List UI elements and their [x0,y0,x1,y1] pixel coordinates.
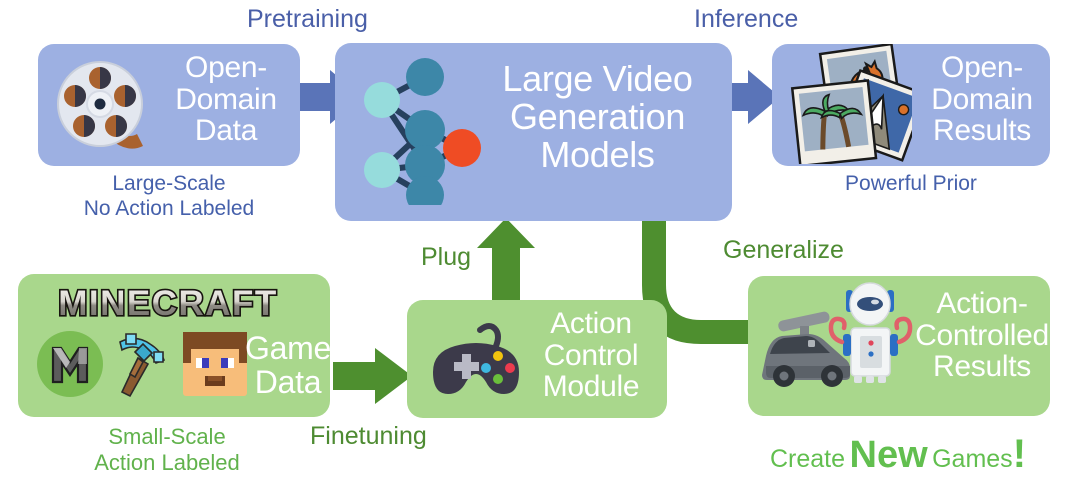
caption-open-domain-results: Powerful Prior [772,172,1050,197]
box-title-open-domain-data: Open- Domain Data [160,52,292,147]
caption-game-data: Small-Scale Action Labeled [22,424,312,476]
box-title-open-domain-results: Open- Domain Results [916,52,1048,147]
diagram-canvas: Open- Domain Data Large-Scale No Action … [0,0,1080,492]
arrow-label-inference: Inference [694,5,798,34]
neural-network-graph-icon [350,55,485,205]
minecraft-medallion-icon [36,330,104,398]
graph-node-mid-upper [405,110,445,150]
box-title-game-data: Game Data [242,332,334,399]
arrow-label-pretraining: Pretraining [247,5,368,34]
autonomous-car-icon [762,311,850,387]
film-reel-icon [55,58,151,154]
graph-node-top [406,58,444,96]
tagline-suffix: Games [932,445,1013,473]
arrow-label-plug: Plug [421,243,471,272]
tagline-emphasis: New [850,434,928,476]
photos-stack-icon [790,44,912,164]
robot-and-car-icon [760,282,920,412]
steve-head-icon [183,332,247,396]
gamepad-icon [428,316,524,404]
graph-node-bottom [406,176,444,205]
arrow-label-finetuning: Finetuning [310,422,427,451]
tagline-create-new-games: Create New Games! [770,432,1026,477]
graph-node-input-top [364,82,400,118]
plug-arrow [477,218,535,300]
tagline-prefix: Create [770,445,845,473]
minecraft-logo-icon: MINECRAFT [46,282,291,324]
box-title-action-controlled-results: Action- Controlled Results [912,288,1052,383]
arrow-label-generalize: Generalize [723,236,844,265]
tagline-exclamation: ! [1013,432,1026,476]
svg-text:MINECRAFT: MINECRAFT [58,284,278,323]
finetuning-arrow [333,348,412,404]
graph-node-input-bottom [364,152,400,188]
diamond-pickaxe-icon [110,330,176,400]
box-title-large-video-generation-models: Large Video Generation Models [470,60,725,173]
caption-open-domain-data: Large-Scale No Action Labeled [28,172,310,222]
box-title-action-control-module: Action Control Module [527,308,655,403]
